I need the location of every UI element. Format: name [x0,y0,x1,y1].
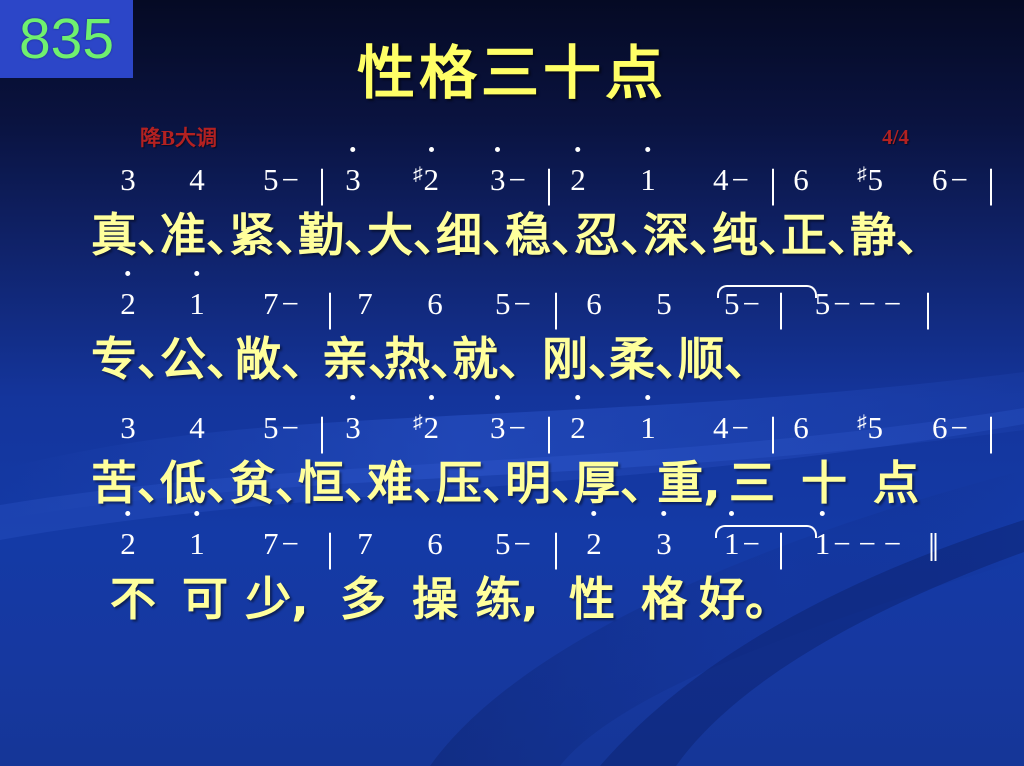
note-digit: 5 [815,280,831,328]
key-signature: 降B大调 [140,122,217,152]
barline: | [769,160,777,208]
barline-glyph: | [552,524,560,572]
note: 5− [263,404,299,452]
note-digit: 3 [120,404,136,452]
note-extension: − [743,520,760,568]
barline-glyph: | [924,284,932,332]
note-digit: 6 [932,156,948,204]
barline-glyph: | [777,284,785,332]
final-barline: ‖ [928,524,932,572]
lyrics-line: 不可少,多操练,性格好。 [0,570,1024,628]
note-digit: 6 [427,280,443,328]
note: 5− [495,280,531,328]
note-extension: − [282,520,299,568]
note-extension: − [514,280,531,328]
note-digit: 5 [868,404,884,452]
note: 5− [724,280,760,328]
note-digit: 2 [120,520,136,568]
note-digit: 4 [713,156,729,204]
note-digit: 7 [357,280,373,328]
note: 3 [120,404,136,452]
barline-glyph: | [545,408,553,456]
barline-glyph: ‖ [928,524,932,572]
note-digit: 5 [495,280,511,328]
note-extension: − [514,520,531,568]
note-extension: − [732,404,749,452]
lyrics-line: 专、公、敞、亲、热、就、刚、柔、顺、 [0,330,1024,388]
lyric-syllable: 就、 [452,330,544,388]
lyric-syllable: 点 [873,454,919,512]
notation-line: 217−|765−|655−|5 − − −| [0,282,1024,330]
note: 3 [120,156,136,204]
note: 1 [189,280,205,328]
note-digit: 1 [189,280,205,328]
note-digit: 3 [490,156,506,204]
lyric-syllable: 练, [475,570,538,628]
note: 2 [570,404,586,452]
note-extension: − [951,156,968,204]
note: 1 [640,404,656,452]
barline: | [545,408,553,456]
note-digit: 2 [424,156,440,204]
note: 3− [490,404,526,452]
note: 2 [570,156,586,204]
note-digit: 2 [120,280,136,328]
barline-glyph: | [552,284,560,332]
note: 3− [490,156,526,204]
note-digit: 6 [427,520,443,568]
note-extension: − [743,280,760,328]
note-digit: 7 [263,280,279,328]
barline-glyph: | [326,524,334,572]
note-extension: − [282,156,299,204]
note-digit: 5 [495,520,511,568]
barline: | [777,524,785,572]
note: 1 − − − [815,520,901,568]
note: 3 [656,520,672,568]
note: 7− [263,520,299,568]
note-extension: − − − [833,520,901,568]
lyric-syllable: 敞、 [235,330,327,388]
note-digit: 2 [570,404,586,452]
slide-canvas: 835 性格三十点 降B大调 4/4 345−|3♯23−|214−|6♯56−… [0,0,1024,766]
note-digit: 4 [189,156,205,204]
score-system: 345−|3♯23−|214−|6♯56−|苦、低、贫、恒、难、压、明、厚、重,… [0,406,1024,512]
note: 2 [120,280,136,328]
note-extension: − [732,156,749,204]
note-digit: 1 [815,520,831,568]
lyric-syllable: 好。 [699,570,791,628]
note: 1 [189,520,205,568]
lyric-syllable: 性 [569,570,615,628]
note: ♯2 [413,399,439,452]
note: 2 [586,520,602,568]
note-digit: 6 [793,404,809,452]
note: 6 [586,280,602,328]
note-digit: 3 [490,404,506,452]
note-digit: 2 [424,404,440,452]
lyric-syllable: 操 [412,570,458,628]
note-digit: 7 [357,520,373,568]
lyric-syllable: 多 [340,570,386,628]
note-digit: 4 [713,404,729,452]
barline: | [326,524,334,572]
barline: | [552,284,560,332]
note-digit: 5 [263,404,279,452]
barline: | [777,284,785,332]
note: 6− [932,404,968,452]
note-digit: 6 [932,404,948,452]
barline: | [326,284,334,332]
note: 1− [724,520,760,568]
barline-glyph: | [769,160,777,208]
sharp-icon: ♯ [857,412,867,433]
sharp-icon: ♯ [857,164,867,185]
lyric-syllable: 少, [245,570,308,628]
note: ♯5 [857,151,883,204]
note: 6 [793,404,809,452]
note-digit: 6 [793,156,809,204]
note: 6 [427,280,443,328]
barline-glyph: | [769,408,777,456]
note: 4 [189,404,205,452]
sharp-icon: ♯ [413,412,423,433]
lyric-syllable: 顺、 [678,330,770,388]
barline: | [924,284,932,332]
note: 5− [263,156,299,204]
note: 4− [713,404,749,452]
note: 4 [189,156,205,204]
barline: | [318,408,326,456]
note-extension: − [509,404,526,452]
lyric-syllable: 三 [729,454,775,512]
sharp-icon: ♯ [413,164,423,185]
barline-glyph: | [777,524,785,572]
note-digit: 1 [189,520,205,568]
barline: | [552,524,560,572]
notation-line: 345−|3♯23−|214−|6♯56−| [0,158,1024,206]
barline-glyph: | [987,160,995,208]
lyric-syllable: 厚、 [574,454,666,512]
note-extension: − [282,280,299,328]
note-digit: 4 [189,404,205,452]
note-digit: 5 [724,280,740,328]
note: 7 [357,280,373,328]
note: 2 [120,520,136,568]
barline-glyph: | [318,408,326,456]
lyrics-line: 真、准、紧、勤、大、细、稳、忍、深、纯、正、静、 [0,206,1024,264]
note-digit: 7 [263,520,279,568]
note: 4− [713,156,749,204]
note-extension: − [951,404,968,452]
note: 3 [345,156,361,204]
note-digit: 5 [263,156,279,204]
notation-line: 217−|765−|231−|1 − − −‖ [0,522,1024,570]
lyric-syllable: 不 [110,570,156,628]
barline-glyph: | [987,408,995,456]
lyric-syllable: 十 [801,454,847,512]
lyrics-line: 苦、低、贫、恒、难、压、明、厚、重,三十点 [0,454,1024,512]
barline: | [318,160,326,208]
note-digit: 5 [656,280,672,328]
barline: | [769,408,777,456]
barline: | [987,160,995,208]
note-digit: 2 [570,156,586,204]
score-system: 217−|765−|655−|5 − − −|专、公、敞、亲、热、就、刚、柔、顺… [0,282,1024,388]
note: ♯5 [857,399,883,452]
note: 6 [427,520,443,568]
note-digit: 3 [120,156,136,204]
note: 6− [932,156,968,204]
note: 6 [793,156,809,204]
note: 3 [345,404,361,452]
score-metadata: 降B大调 4/4 [140,124,909,150]
score-system: 217−|765−|231−|1 − − −‖不可少,多操练,性格好。 [0,522,1024,628]
note: 1 [640,156,656,204]
lyric-syllable: 静、 [850,206,942,264]
barline: | [987,408,995,456]
note: 5 [656,280,672,328]
note: 7− [263,280,299,328]
slide-title: 性格三十点 [0,44,1024,102]
time-signature: 4/4 [882,125,909,150]
note-digit: 3 [345,404,361,452]
score-system: 345−|3♯23−|214−|6♯56−|真、准、紧、勤、大、细、稳、忍、深、… [0,158,1024,264]
note-extension: − − − [833,280,901,328]
note-digit: 3 [656,520,672,568]
note: 7 [357,520,373,568]
lyric-syllable: 格 [641,570,687,628]
note-digit: 1 [724,520,740,568]
note-digit: 3 [345,156,361,204]
barline-glyph: | [326,284,334,332]
barline-glyph: | [545,160,553,208]
musical-score: 345−|3♯23−|214−|6♯56−|真、准、紧、勤、大、细、稳、忍、深、… [0,158,1024,628]
note-digit: 1 [640,156,656,204]
barline: | [545,160,553,208]
note-digit: 2 [586,520,602,568]
note-extension: − [282,404,299,452]
note: 5− [495,520,531,568]
note-digit: 1 [640,404,656,452]
note-digit: 6 [586,280,602,328]
note-extension: − [509,156,526,204]
lyric-syllable: 重, [657,454,720,512]
note: ♯2 [413,151,439,204]
notation-line: 345−|3♯23−|214−|6♯56−| [0,406,1024,454]
lyric-syllable: 可 [182,570,228,628]
barline-glyph: | [318,160,326,208]
note-digit: 5 [868,156,884,204]
note: 5 − − − [815,280,901,328]
